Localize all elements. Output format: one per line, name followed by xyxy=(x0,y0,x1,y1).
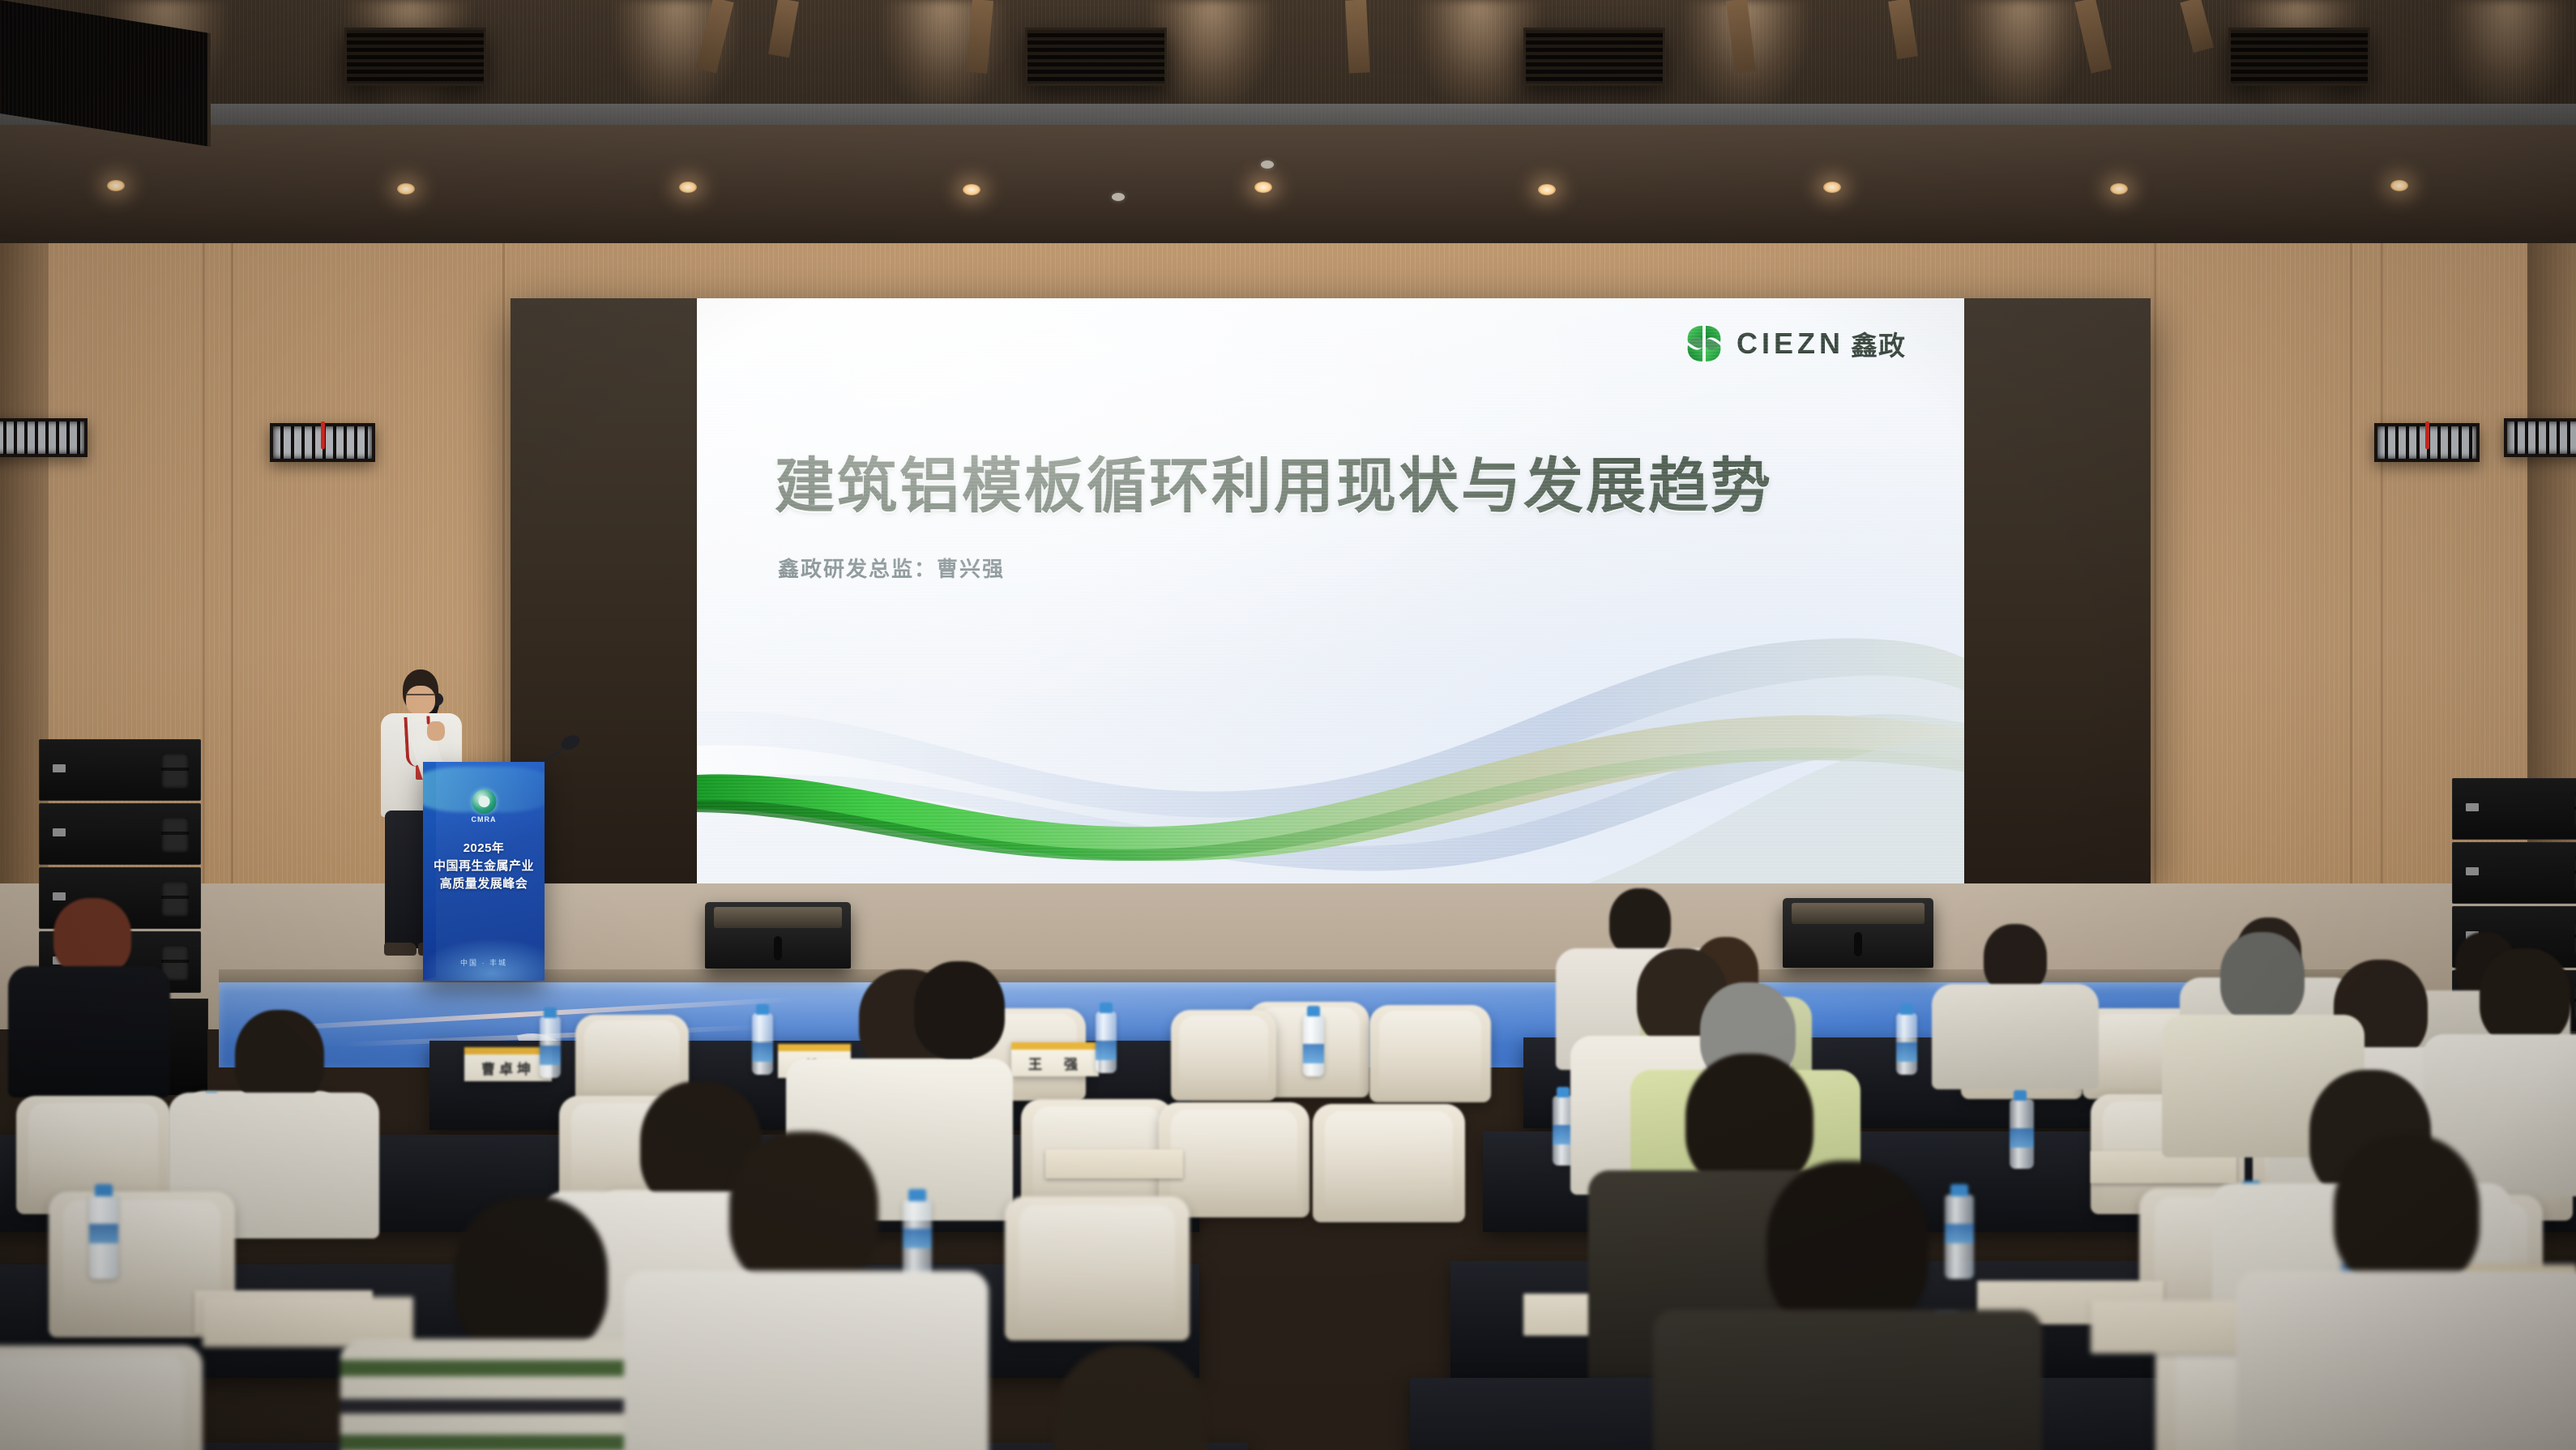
water-bottle xyxy=(2010,1099,2034,1169)
bottle-label xyxy=(1945,1224,1974,1243)
bottle-cap xyxy=(756,1004,769,1015)
ceiling xyxy=(0,0,2576,243)
bottle-cap xyxy=(1100,1003,1113,1013)
cmra-logo: CMRA xyxy=(472,789,497,823)
screen-bezel-right xyxy=(1964,298,2151,883)
glasses-icon xyxy=(406,694,435,701)
bottle-label xyxy=(540,1046,561,1065)
podium-line-3: 高质量发展峰会 xyxy=(423,875,545,893)
notepad xyxy=(1045,1149,1183,1178)
speaker-module xyxy=(39,803,201,865)
water-bottle xyxy=(89,1195,118,1279)
podium-line-2: 中国再生金属产业 xyxy=(423,858,545,875)
smoke-detector xyxy=(1261,160,1274,169)
ceiling-light-band xyxy=(0,104,2576,125)
bottle-label xyxy=(752,1042,773,1062)
recessed-downlight xyxy=(397,183,415,195)
ceiling-beam xyxy=(1345,0,1370,74)
ceiling-light-cone xyxy=(1418,0,1540,105)
stage-monitor-wedge xyxy=(705,902,851,969)
bottle-label xyxy=(1096,1041,1117,1060)
bottle-cap xyxy=(1307,1006,1320,1016)
ceiling-vent-grille xyxy=(1025,28,1167,86)
cmra-logo-text: CMRA xyxy=(472,815,497,823)
bottle-cap xyxy=(1950,1184,1968,1196)
bottle-label xyxy=(2010,1128,2034,1148)
speaker-badge xyxy=(53,764,66,772)
podium-line-1: 2025年 xyxy=(423,840,545,858)
attendee-head xyxy=(1609,888,1671,956)
water-bottle xyxy=(1303,1015,1324,1076)
attendee-head xyxy=(1766,1161,1929,1334)
vent-pull-tag xyxy=(321,421,325,449)
attendee-body xyxy=(8,966,170,1097)
attendee-head xyxy=(235,1010,324,1106)
wall-panel-seam xyxy=(203,243,205,973)
attendee-head xyxy=(2480,948,2570,1046)
speaker-badge xyxy=(53,828,66,836)
ceiling-light-cone xyxy=(1151,0,1272,105)
cmra-ring-icon xyxy=(472,789,496,814)
wall-panel-seam xyxy=(231,243,233,973)
attendee-head xyxy=(2334,1135,2480,1290)
name-placard: 王 强 xyxy=(1011,1042,1099,1076)
attendee-head xyxy=(1685,1054,1813,1190)
monitor-grille xyxy=(714,907,842,928)
recessed-downlight xyxy=(963,184,980,195)
presenter-hand xyxy=(427,721,445,741)
brand-wordmark: CIEZN 鑫政 xyxy=(1737,324,1906,363)
speaker-badge xyxy=(2466,803,2479,811)
podium-glow xyxy=(423,937,545,981)
podium-event-title: 2025年 中国再生金属产业 高质量发展峰会 xyxy=(423,840,545,892)
bottle-cap xyxy=(1900,1004,1913,1015)
slide-wave-graphic xyxy=(697,616,1964,883)
speaker-module xyxy=(2452,842,2576,904)
speaker-module xyxy=(2452,778,2576,840)
wall-air-vent xyxy=(2504,418,2576,457)
recessed-downlight xyxy=(679,182,697,193)
wave-svg xyxy=(697,616,1964,883)
bottle-cap xyxy=(908,1189,926,1201)
attendee-body xyxy=(2236,1271,2576,1450)
smoke-detector xyxy=(1112,193,1125,201)
water-bottle xyxy=(1945,1195,1974,1279)
chair xyxy=(1313,1104,1465,1222)
attendee-head xyxy=(53,898,131,976)
chair xyxy=(1171,1010,1276,1101)
bottle-label xyxy=(903,1229,932,1248)
ceiling-light-cone xyxy=(1961,0,2083,105)
bottle-label xyxy=(89,1224,118,1243)
chair xyxy=(1369,1005,1491,1102)
bottle-cap xyxy=(1557,1087,1570,1097)
ceiling-vent-grille xyxy=(2228,28,2370,86)
slide-title: 建筑铝模板循环利用现状与发展趋势 xyxy=(775,438,1773,524)
ceiling-vent-grille xyxy=(344,28,486,86)
attendee-body xyxy=(624,1271,989,1450)
monitor-grille xyxy=(1792,903,1925,924)
recessed-downlight xyxy=(107,180,125,191)
speaker-module xyxy=(39,739,201,801)
bottle-label xyxy=(1303,1044,1324,1063)
monitor-handle-slot xyxy=(1854,932,1862,956)
vent-pull-tag xyxy=(2425,421,2429,449)
brand-chinese: 鑫政 xyxy=(1851,324,1906,363)
wall-panel-seam xyxy=(2154,243,2156,973)
brand-latin: CIEZN xyxy=(1737,327,1844,361)
slide-brand-logo: CIEZN 鑫政 xyxy=(1683,323,1906,365)
ceiling-light-cone xyxy=(2447,0,2569,105)
water-bottle xyxy=(1096,1012,1117,1073)
recessed-downlight xyxy=(1254,182,1272,193)
monitor-handle-slot xyxy=(774,936,782,960)
presentation-slide[interactable]: CIEZN 鑫政 建筑铝模板循环利用现状与发展趋势 鑫政研发总监：曹兴强 xyxy=(697,298,1964,883)
recessed-downlight xyxy=(1823,182,1841,193)
name-placard: 曹卓坤 xyxy=(464,1047,552,1081)
attendee-head xyxy=(729,1131,878,1290)
bottle-cap xyxy=(544,1007,557,1018)
conference-hall-photo: CIEZN 鑫政 建筑铝模板循环利用现状与发展趋势 鑫政研发总监：曹兴强 xyxy=(0,0,2576,1450)
water-bottle xyxy=(752,1013,773,1075)
speaker-badge xyxy=(2466,867,2479,875)
attendee-head xyxy=(914,961,1005,1059)
recessed-downlight xyxy=(2110,183,2128,195)
led-screen-frame: CIEZN 鑫政 建筑铝模板循环利用现状与发展趋势 鑫政研发总监：曹兴强 xyxy=(511,298,2151,883)
bottle-cap xyxy=(95,1184,113,1196)
attendee-head xyxy=(454,1196,608,1358)
bottle-cap xyxy=(2014,1090,2027,1101)
chair xyxy=(1005,1196,1190,1341)
chair xyxy=(0,1345,203,1450)
wall-air-vent xyxy=(0,418,88,457)
stage-monitor-wedge xyxy=(1783,898,1933,968)
attendee-body xyxy=(1653,1310,2042,1450)
bottle-label xyxy=(1896,1042,1917,1062)
presenter-shoe xyxy=(384,943,417,956)
ceiling-vent-grille xyxy=(1523,28,1665,86)
recessed-downlight xyxy=(2390,180,2408,191)
lectern-podium: CMRA 2025年 中国再生金属产业 高质量发展峰会 中国 · 丰城 xyxy=(423,762,545,981)
water-bottle xyxy=(1896,1013,1917,1075)
recessed-downlight xyxy=(1538,184,1556,195)
attendee-head xyxy=(2220,932,2305,1023)
attendee-body xyxy=(1932,984,2099,1089)
wall-air-vent xyxy=(270,423,375,462)
ceiling-soffit xyxy=(0,125,2576,243)
speaker-badge xyxy=(53,892,66,900)
water-bottle xyxy=(540,1016,561,1078)
wall-panel-seam xyxy=(2350,243,2352,973)
slide-subtitle: 鑫政研发总监：曹兴强 xyxy=(778,553,1005,583)
ciezn-pinwheel-logo-icon xyxy=(1683,323,1725,365)
pinwheel-svg xyxy=(1683,323,1725,365)
wall-air-vent xyxy=(2374,423,2480,462)
wall-panel-seam xyxy=(2381,243,2383,973)
